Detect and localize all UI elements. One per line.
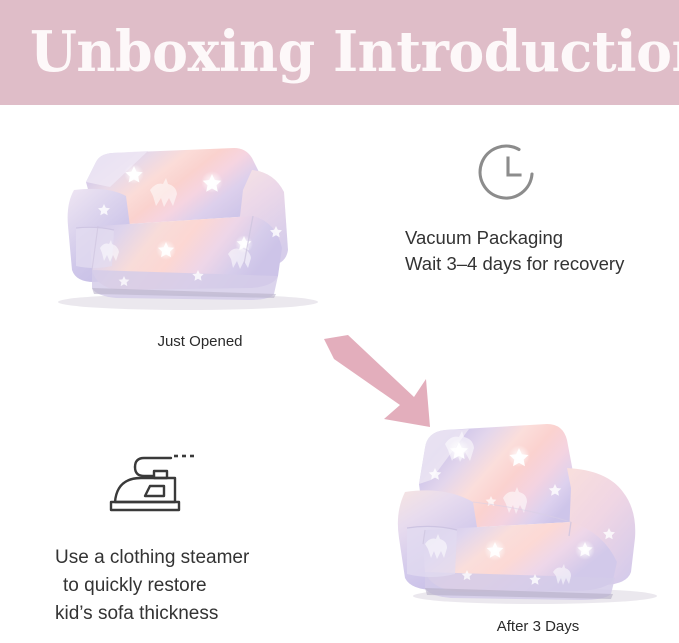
after-caption: After 3 Days xyxy=(458,618,618,635)
steamer-line-3: kid’s sofa thickness xyxy=(55,600,355,628)
clock-icon xyxy=(475,140,679,211)
clothing-steamer-block: Use a clothing steamer to quickly restor… xyxy=(55,445,355,628)
clothing-iron-icon xyxy=(107,445,355,526)
vacuum-line-2: Wait 3–4 days for recovery xyxy=(405,251,679,277)
after-sofa-image xyxy=(395,410,679,615)
before-sofa-image xyxy=(38,130,328,325)
steamer-line-1: Use a clothing steamer xyxy=(55,544,355,572)
vacuum-packaging-block: Vacuum Packaging Wait 3–4 days for recov… xyxy=(405,140,679,277)
steamer-line-2: to quickly restore xyxy=(55,572,355,600)
page-title: Unboxing Introduction xyxy=(30,18,679,86)
before-caption: Just Opened xyxy=(100,333,300,350)
header-banner: Unboxing Introduction xyxy=(0,0,679,105)
content-stage: Just Opened Vacuum Packaging Wait 3–4 da… xyxy=(0,105,679,643)
vacuum-packaging-text: Vacuum Packaging Wait 3–4 days for recov… xyxy=(405,225,679,277)
clothing-steamer-text: Use a clothing steamer to quickly restor… xyxy=(55,544,355,628)
vacuum-line-1: Vacuum Packaging xyxy=(405,225,679,251)
